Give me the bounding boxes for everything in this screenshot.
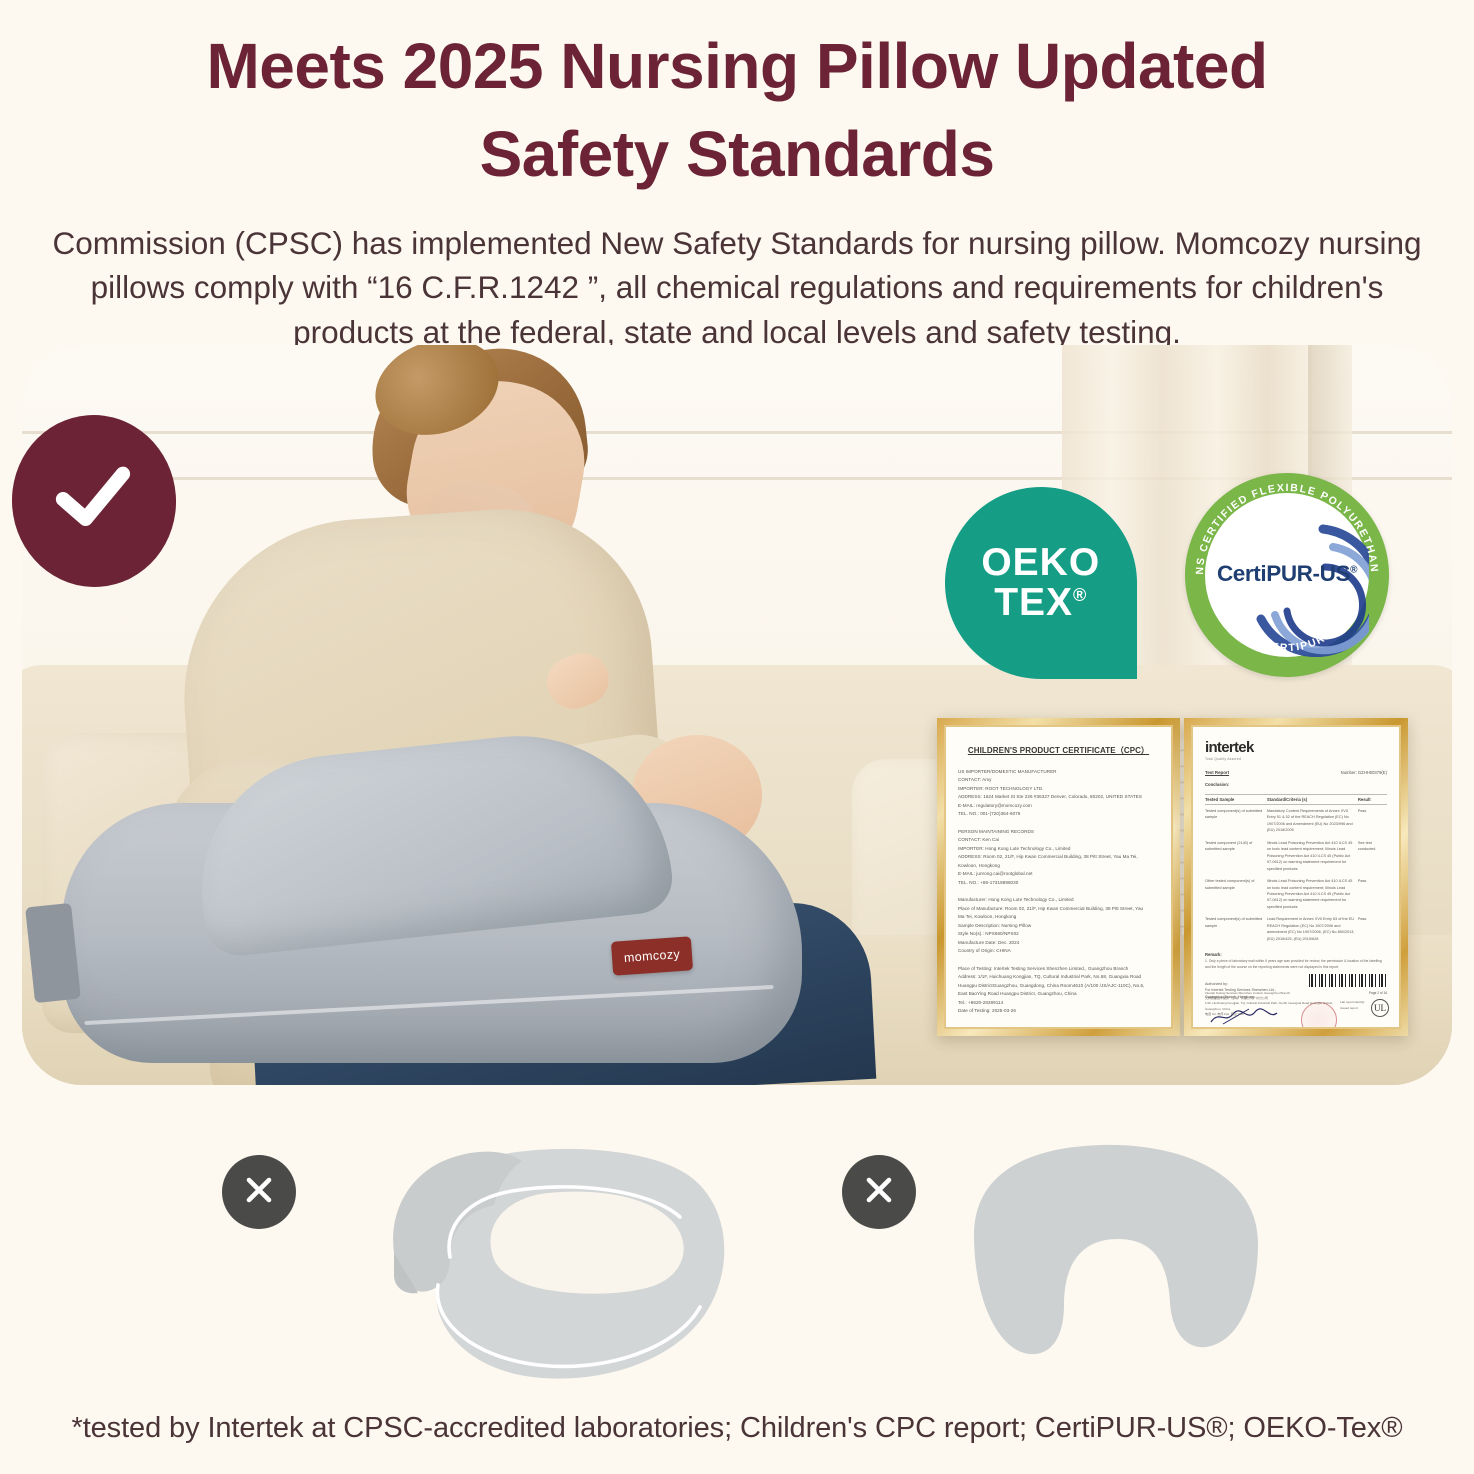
cell-criteria: Mandatory Content Requirements of Annex …: [1267, 808, 1358, 834]
certipur-wordmark: CertiPUR-US®: [1185, 561, 1389, 587]
header: Meets 2025 Nursing Pillow Updated Safety…: [0, 0, 1474, 355]
nursing-pillow-strap: [25, 903, 81, 1003]
page-title-line1: Meets 2025 Nursing Pillow Updated: [40, 22, 1434, 110]
ring-pillow-illustration: [332, 1135, 762, 1410]
cpc-line: ADDRESS: Room 02, 21/F, Hip Kwan Commerc…: [958, 853, 1159, 861]
ul-mark-icon: UL: [1371, 999, 1389, 1017]
cpc-line: E-MAIL: junrong.cai@rootglobal.net: [958, 870, 1159, 878]
cpc-line: TEL. NO.: +86-17318896030: [958, 879, 1159, 887]
cpc-line: Style No(s).: NPS660/NPS02: [958, 930, 1159, 938]
x-icon: [239, 1170, 279, 1215]
cpc-line: ADDRESS: 1624 Market St Ste 226 #36327 D…: [958, 793, 1159, 801]
oeko-tex-badge: OEKO TEX®: [945, 487, 1137, 679]
cpc-line: Manufacturer: Hong Kong Lute Technology …: [958, 896, 1159, 904]
intertek-table-row: Other tested component(s) of submitted s…: [1205, 875, 1387, 913]
col-criteria: Standard/Criteria (s): [1267, 797, 1358, 802]
footnote: *tested by Intertek at CPSC-accredited l…: [0, 1412, 1474, 1445]
intertek-remark-text: 1. Only a piece of laboratory mail withi…: [1205, 959, 1387, 971]
cell-result: Pass: [1358, 808, 1387, 834]
cpc-line: Ma Tei, Kowloon, Hongkong: [958, 913, 1159, 921]
intertek-footer-left: Intertek Testing Services Shenzhen Limit…: [1205, 991, 1345, 1017]
comparison-row: [0, 1105, 1474, 1405]
cpc-line: Place of Testing: Intertek Testing Servi…: [958, 965, 1159, 973]
cell-result: See test conducted: [1358, 840, 1387, 872]
cpc-line: IMPORTER: ROOT TECHNOLOGY LTD.: [958, 785, 1159, 793]
cpc-line: Manufacture Date: Dec. 2024: [958, 939, 1159, 947]
cpc-block-importer: US IMPORTER/DOMESTIC MANUFACTURERCONTACT…: [958, 768, 1159, 819]
cell-sample: Tested component(s) of submitted sample: [1205, 808, 1267, 834]
cell-criteria: Lead Requirement in Annex XVII Entry 63 …: [1267, 916, 1358, 942]
cpc-block-testing: Place of Testing: Intertek Testing Servi…: [958, 965, 1159, 1016]
certipur-wordmark-text: CertiPUR-US: [1217, 561, 1350, 586]
cell-sample: Tested component (2140) of submitted sam…: [1205, 840, 1267, 872]
cpc-block-records: PERSON MAINTAINING RECORDSCONTACT: Ken C…: [958, 828, 1159, 887]
x-icon: [859, 1170, 899, 1215]
cpc-line: CONTACT: Amy: [958, 776, 1159, 784]
cell-criteria: Illinois Lead Poisoning Prevention Act 4…: [1267, 878, 1358, 910]
intertek-tagline: Total Quality Assured: [1205, 757, 1387, 761]
cpc-line: Place of Manufacture: Room 02, 21/F, Hip…: [958, 905, 1159, 913]
intertek-results-table: Tested Sample Standard/Criteria (s) Resu…: [1205, 794, 1387, 945]
cpc-line: Sample Description: Nursing Pillow: [958, 922, 1159, 930]
col-result: Result: [1358, 797, 1387, 802]
cpc-line: PERSON MAINTAINING RECORDS: [958, 828, 1159, 836]
certipur-registered-mark: ®: [1350, 565, 1357, 576]
cell-criteria: Illinois Lead Poisoning Prevention Act 4…: [1267, 840, 1358, 872]
intertek-table-row: Tested component (2140) of submitted sam…: [1205, 837, 1387, 875]
cpc-block-manufacture: Manufacturer: Hong Kong Lute Technology …: [958, 896, 1159, 955]
intertek-footer-right: Lab report identity:Issued report: [1340, 1000, 1365, 1011]
cpc-line: Country of Origin: CHINA: [958, 947, 1159, 955]
intertek-remark-label: Remark:: [1205, 952, 1387, 957]
certipur-ring-bottom-text: WWW.CERTIPUR.US: [1228, 619, 1346, 654]
cpc-line: Address: 1/1F, Huichuang Kongjian, TQ, C…: [958, 973, 1159, 981]
cpc-line: East BaoYing Road Huangpu District, Guan…: [958, 990, 1159, 998]
page-subtitle: Commission (CPSC) has implemented New Sa…: [42, 221, 1432, 355]
cpc-line: Kowloon, Hongkong: [958, 862, 1159, 870]
barcode: [1309, 974, 1387, 987]
cpc-line: TEL. NO.: 001-(720)364-6076: [958, 810, 1159, 818]
cpc-title: CHILDREN'S PRODUCT CERTIFICATE（CPC）: [958, 745, 1159, 756]
oeko-tex-line2: TEX: [994, 581, 1073, 624]
cpc-line: Tel.: +8620-28289114: [958, 999, 1159, 1007]
momcozy-tag-label: momcozy: [623, 947, 680, 965]
promo-page: Meets 2025 Nursing Pillow Updated Safety…: [0, 0, 1474, 1474]
certipur-us-badge: CONTAINS CERTIFIED FLEXIBLE POLYURETHANE…: [1185, 473, 1389, 677]
check-icon: [43, 447, 146, 554]
intertek-table-row: Tested component(s) of submitted sampleL…: [1205, 913, 1387, 945]
intertek-table-row: Tested component(s) of submitted sampleM…: [1205, 805, 1387, 837]
intertek-report-label: Test Report: [1205, 770, 1229, 775]
cpc-line: US IMPORTER/DOMESTIC MANUFACTURER: [958, 768, 1159, 776]
oeko-tex-line1: OEKO: [982, 543, 1101, 583]
cell-sample: Other tested component(s) of submitted s…: [1205, 878, 1267, 910]
intertek-number: Number: GZHH00379(E): [1341, 770, 1387, 775]
intertek-report: intertek Total Quality Assured Test Repo…: [1184, 718, 1408, 1036]
u-pillow-illustration: [952, 1135, 1282, 1390]
momcozy-brand-tag: momcozy: [611, 936, 693, 975]
certipur-ring-top-text: CONTAINS CERTIFIED FLEXIBLE POLYURETHANE…: [1185, 473, 1380, 575]
cpc-line: Huangpu DistrictGuangzhou, Guangdong, Ch…: [958, 982, 1159, 990]
intertek-logo: intertek: [1205, 739, 1387, 756]
cell-sample: Tested component(s) of submitted sample: [1205, 916, 1267, 942]
cpc-line: IMPORTER: Hong Kong Lute Technology Co.,…: [958, 845, 1159, 853]
intertek-conclusion-label: Conclusion:: [1205, 782, 1387, 787]
col-sample: Tested Sample: [1205, 797, 1267, 802]
cell-result: Pass: [1358, 878, 1387, 910]
intertek-table-header: Tested Sample Standard/Criteria (s) Resu…: [1205, 795, 1387, 805]
cell-result: Pass: [1358, 916, 1387, 942]
oeko-tex-registered-mark: ®: [1073, 585, 1087, 605]
cpc-certificate: CHILDREN'S PRODUCT CERTIFICATE（CPC） US I…: [937, 718, 1180, 1036]
page-title-line2: Safety Standards: [40, 110, 1434, 198]
page-title: Meets 2025 Nursing Pillow Updated Safety…: [40, 22, 1434, 199]
x-badge: [222, 1155, 296, 1229]
intertek-page-number: Page 2 of 16: [1369, 991, 1387, 995]
cpc-line: CONTACT: Ken Cai: [958, 836, 1159, 844]
cpc-line: E-MAIL: regulatory@momcozy.com: [958, 802, 1159, 810]
x-badge: [842, 1155, 916, 1229]
cpc-line: Date of Testing: 2025-03-26: [958, 1007, 1159, 1015]
